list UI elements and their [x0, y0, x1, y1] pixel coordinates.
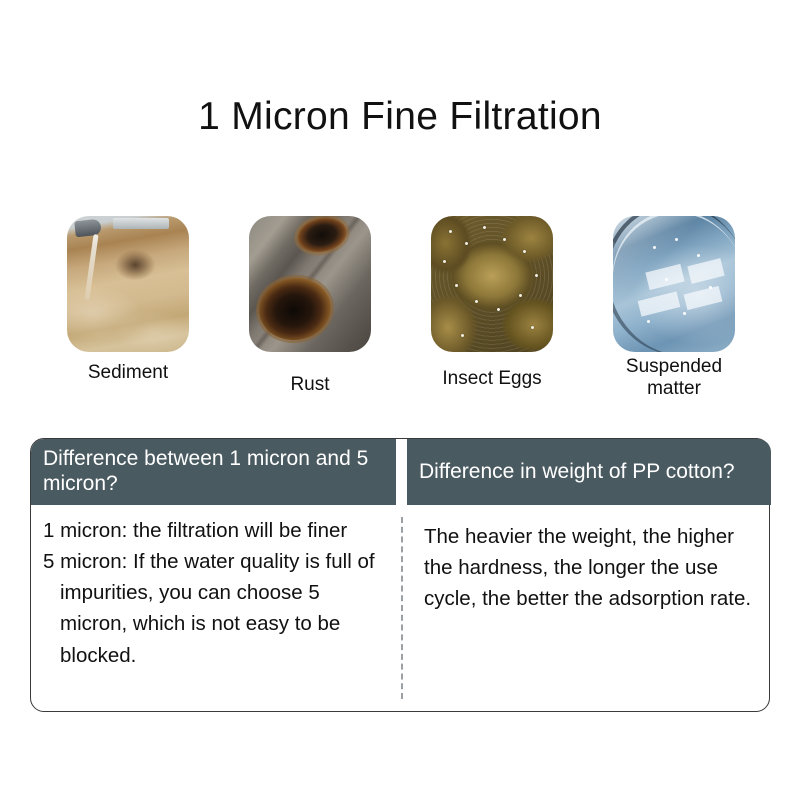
egg-speck	[443, 260, 446, 263]
egg-speck	[475, 300, 478, 303]
water-stream-shape	[84, 234, 98, 300]
egg-speck	[483, 226, 486, 229]
faq-question-right: Difference in weight of PP cotton?	[407, 439, 771, 505]
particle-fleck	[675, 238, 678, 241]
contaminant-card-suspended-matter[interactable]: Suspended matter	[598, 216, 750, 400]
faq-question-left: Difference between 1 micron and 5 micron…	[31, 439, 396, 505]
contaminant-card-insect-eggs[interactable]: Insect Eggs	[416, 216, 568, 390]
faq-panel: Difference between 1 micron and 5 micron…	[30, 438, 770, 712]
insect-eggs-image	[431, 216, 553, 352]
egg-speck	[455, 284, 458, 287]
contaminant-label-suspended-matter: Suspended matter	[598, 356, 750, 400]
contaminant-label-insect-eggs: Insect Eggs	[416, 368, 568, 390]
sediment-image	[67, 216, 189, 352]
faq-column-right: Difference in weight of PP cotton? The h…	[402, 439, 771, 711]
rust-image	[249, 216, 371, 352]
particle-fleck	[709, 286, 712, 289]
faq-answer-right-line-1: The heavier the weight, the higher the h…	[424, 521, 759, 614]
particle-fleck	[665, 278, 668, 281]
page-title: 1 Micron Fine Filtration	[0, 96, 800, 139]
particle-fleck	[683, 312, 686, 315]
contaminant-card-sediment[interactable]: Sediment	[52, 216, 204, 384]
faq-answer-left-line-1: 1 micron: the filtration will be finer	[43, 515, 389, 546]
contaminant-label-sediment: Sediment	[52, 362, 204, 384]
contaminant-gallery: Sediment Rust Insect Eggs	[52, 216, 752, 416]
egg-speck	[531, 326, 534, 329]
egg-speck	[535, 274, 538, 277]
egg-speck	[519, 294, 522, 297]
egg-speck	[465, 242, 468, 245]
egg-speck	[523, 250, 526, 253]
faq-answer-right: The heavier the weight, the higher the h…	[424, 521, 759, 614]
egg-speck	[461, 334, 464, 337]
contaminant-card-rust[interactable]: Rust	[234, 216, 386, 396]
faq-column-left: Difference between 1 micron and 5 micron…	[31, 439, 401, 711]
faq-answer-left-line-2: 5 micron: If the water quality is full o…	[43, 546, 389, 671]
sink-rim-shape	[113, 218, 169, 229]
particle-fleck	[647, 320, 650, 323]
particle-fleck	[697, 254, 700, 257]
contaminant-label-rust: Rust	[234, 374, 386, 396]
faq-answer-left: 1 micron: the filtration will be finer 5…	[43, 515, 389, 671]
egg-speck	[497, 308, 500, 311]
egg-speck	[503, 238, 506, 241]
egg-speck	[449, 230, 452, 233]
suspended-matter-image	[613, 216, 735, 352]
particle-fleck	[653, 246, 656, 249]
